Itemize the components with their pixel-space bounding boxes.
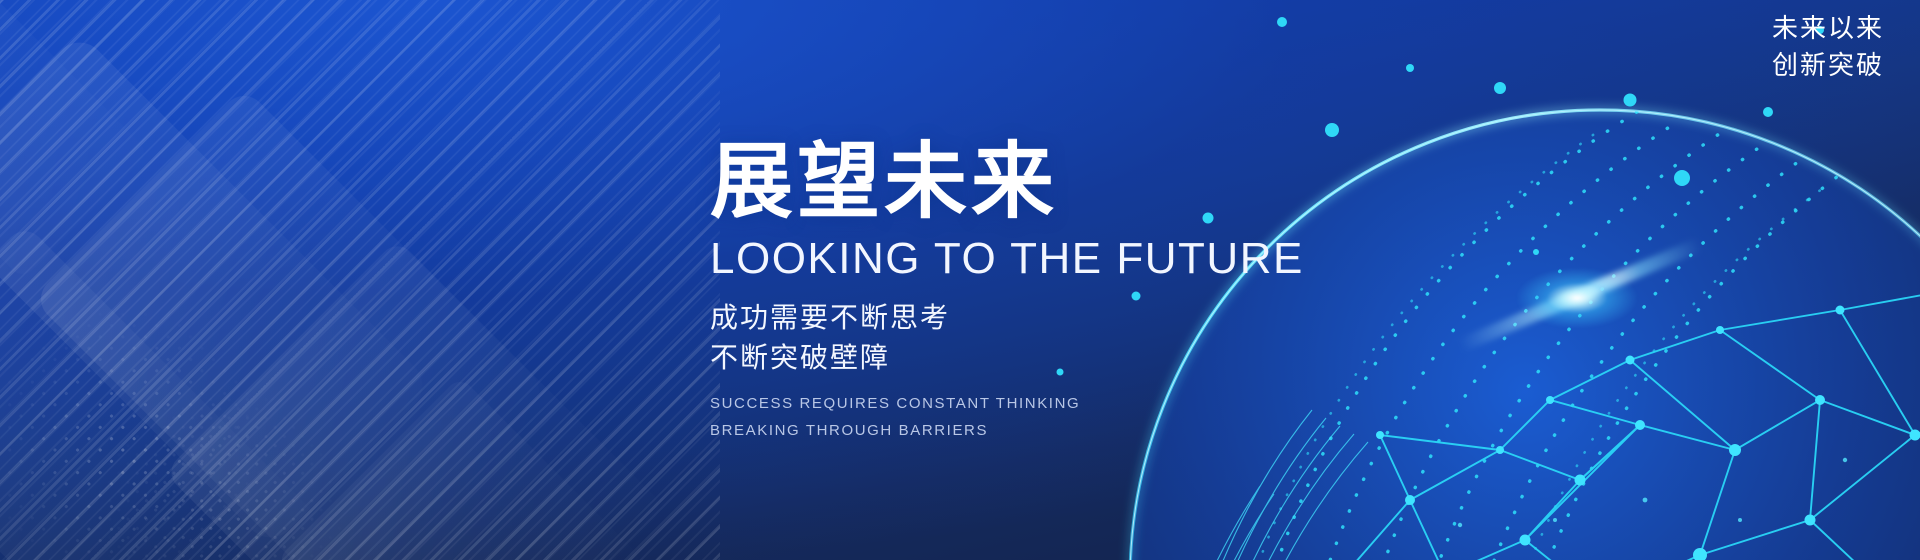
glass-panel-5 bbox=[0, 0, 150, 280]
hero-banner: 展望未来 LOOKING TO THE FUTURE 成功需要不断思考 不断突破… bbox=[0, 0, 1920, 560]
page-title: 展望未来 bbox=[710, 138, 1410, 226]
glass-panel-3 bbox=[0, 223, 322, 560]
glass-panel-4 bbox=[164, 239, 666, 560]
glass-panel-1 bbox=[0, 32, 433, 548]
diagonal-line-pattern bbox=[0, 0, 720, 560]
subtitle-english-line-1: SUCCESS REQUIRES CONSTANT THINKING bbox=[710, 390, 1410, 418]
corner-slogan: 未来以来 创新突破 bbox=[1772, 10, 1884, 84]
lens-flare-streak bbox=[1458, 238, 1703, 352]
diamond-dot-grid bbox=[0, 238, 332, 560]
corner-slogan-line-2: 创新突破 bbox=[1772, 47, 1884, 84]
corner-slogan-line-1: 未来以来 bbox=[1772, 10, 1884, 47]
lens-flare-highlight bbox=[1517, 268, 1637, 328]
subtitle-chinese-line-2: 不断突破壁障 bbox=[710, 338, 1410, 378]
subtitle-chinese: 成功需要不断思考 不断突破壁障 bbox=[710, 298, 1410, 378]
subtitle-english-line-2: BREAKING THROUGH BARRIERS bbox=[710, 417, 1410, 445]
left-geometric-decoration bbox=[0, 0, 720, 560]
diamond-dot-grid-secondary bbox=[36, 326, 404, 560]
page-title-english: LOOKING TO THE FUTURE bbox=[710, 236, 1410, 282]
glass-panel-6 bbox=[276, 376, 644, 560]
glass-panel-2 bbox=[32, 87, 548, 560]
headline-block: 展望未来 LOOKING TO THE FUTURE 成功需要不断思考 不断突破… bbox=[710, 138, 1410, 445]
diagonal-line-pattern-fine bbox=[0, 0, 720, 560]
subtitle-chinese-line-1: 成功需要不断思考 bbox=[710, 298, 1410, 338]
subtitle-english: SUCCESS REQUIRES CONSTANT THINKING BREAK… bbox=[710, 390, 1410, 446]
